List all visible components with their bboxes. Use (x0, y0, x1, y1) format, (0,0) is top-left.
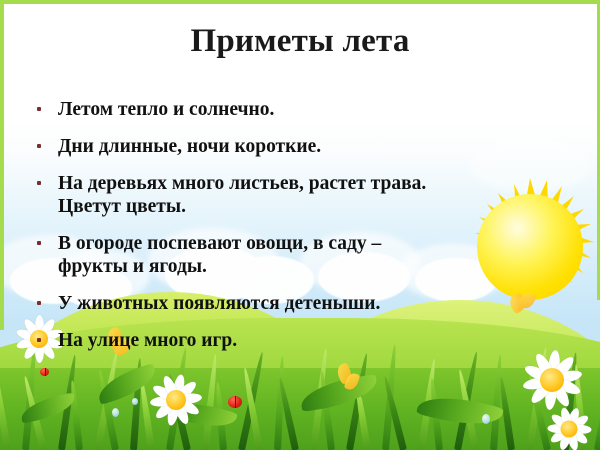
slide-content: Приметы лета Летом тепло и солнечно. Дни… (0, 0, 600, 450)
list-item: Дни длинные, ночи короткие. (30, 135, 570, 158)
list-item-label: Летом тепло и солнечно. (58, 98, 570, 121)
list-item-label: На улице много игр. (58, 329, 570, 352)
list-item-label: На деревьях много листьев, растет трава.… (58, 172, 570, 218)
bullet-marker-icon (37, 144, 41, 148)
list-item-label: Дни длинные, ночи короткие. (58, 135, 570, 158)
bullet-marker-icon (37, 338, 41, 342)
bullet-marker-icon (37, 107, 41, 111)
list-item: На улице много игр. (30, 329, 570, 352)
list-item: У животных появляются детеныши. (30, 292, 570, 315)
frame-border-left (0, 0, 4, 330)
list-item: Летом тепло и солнечно. (30, 98, 570, 121)
bullet-marker-icon (37, 181, 41, 185)
page-title: Приметы лета (0, 23, 600, 59)
list-item-label: У животных появляются детеныши. (58, 292, 570, 315)
bullet-list: Летом тепло и солнечно. Дни длинные, ноч… (30, 98, 570, 352)
slide-canvas: Приметы лета Летом тепло и солнечно. Дни… (0, 0, 600, 450)
list-item: На деревьях много листьев, растет трава.… (30, 172, 570, 218)
list-item-label: В огороде поспевают овощи, в саду – фрук… (58, 232, 570, 278)
bullet-marker-icon (37, 301, 41, 305)
list-item: В огороде поспевают овощи, в саду – фрук… (30, 232, 570, 278)
bullet-marker-icon (37, 241, 41, 245)
frame-border-top (0, 0, 600, 4)
